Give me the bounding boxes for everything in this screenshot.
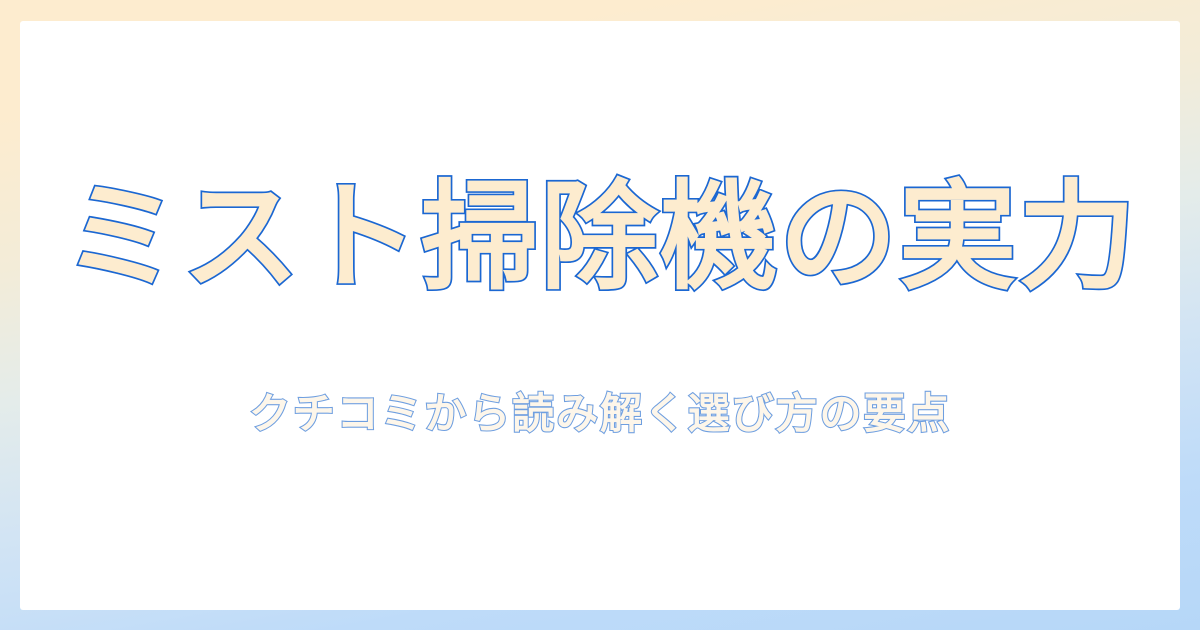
subtitle-block: クチコミから読み解く選び方の要点 [20,387,1180,442]
title-block: ミスト掃除機の実力 [20,171,1180,303]
page-subtitle: クチコミから読み解く選び方の要点 [20,387,1180,442]
page-title: ミスト掃除機の実力 [20,171,1180,303]
banner-background: ミスト掃除機の実力 クチコミから読み解く選び方の要点 [0,0,1200,630]
banner-card: ミスト掃除機の実力 クチコミから読み解く選び方の要点 [20,21,1180,610]
